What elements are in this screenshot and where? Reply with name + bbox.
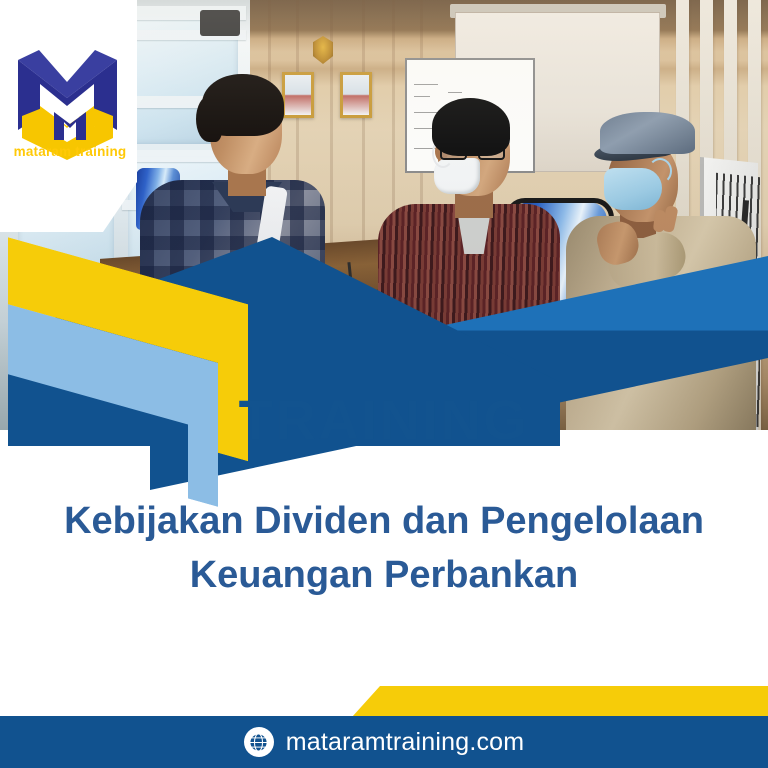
- globe-icon: [244, 727, 274, 757]
- poster-canvas: mataram training TRAINING Kebijakan Divi…: [0, 0, 768, 768]
- website-url[interactable]: mataramtraining.com: [286, 728, 525, 757]
- page-title: TRAINING: [0, 392, 768, 448]
- footer-bar: mataramtraining.com: [0, 716, 768, 768]
- subtitle-line-1: Kebijakan Dividen dan Pengelolaan: [22, 495, 746, 549]
- footer-yellow-accent: [0, 686, 768, 717]
- logo-caption: mataram training: [0, 144, 140, 159]
- page-subtitle: Kebijakan Dividen dan Pengelolaan Keuang…: [0, 495, 768, 603]
- subtitle-line-2: Keuangan Perbankan: [22, 549, 746, 603]
